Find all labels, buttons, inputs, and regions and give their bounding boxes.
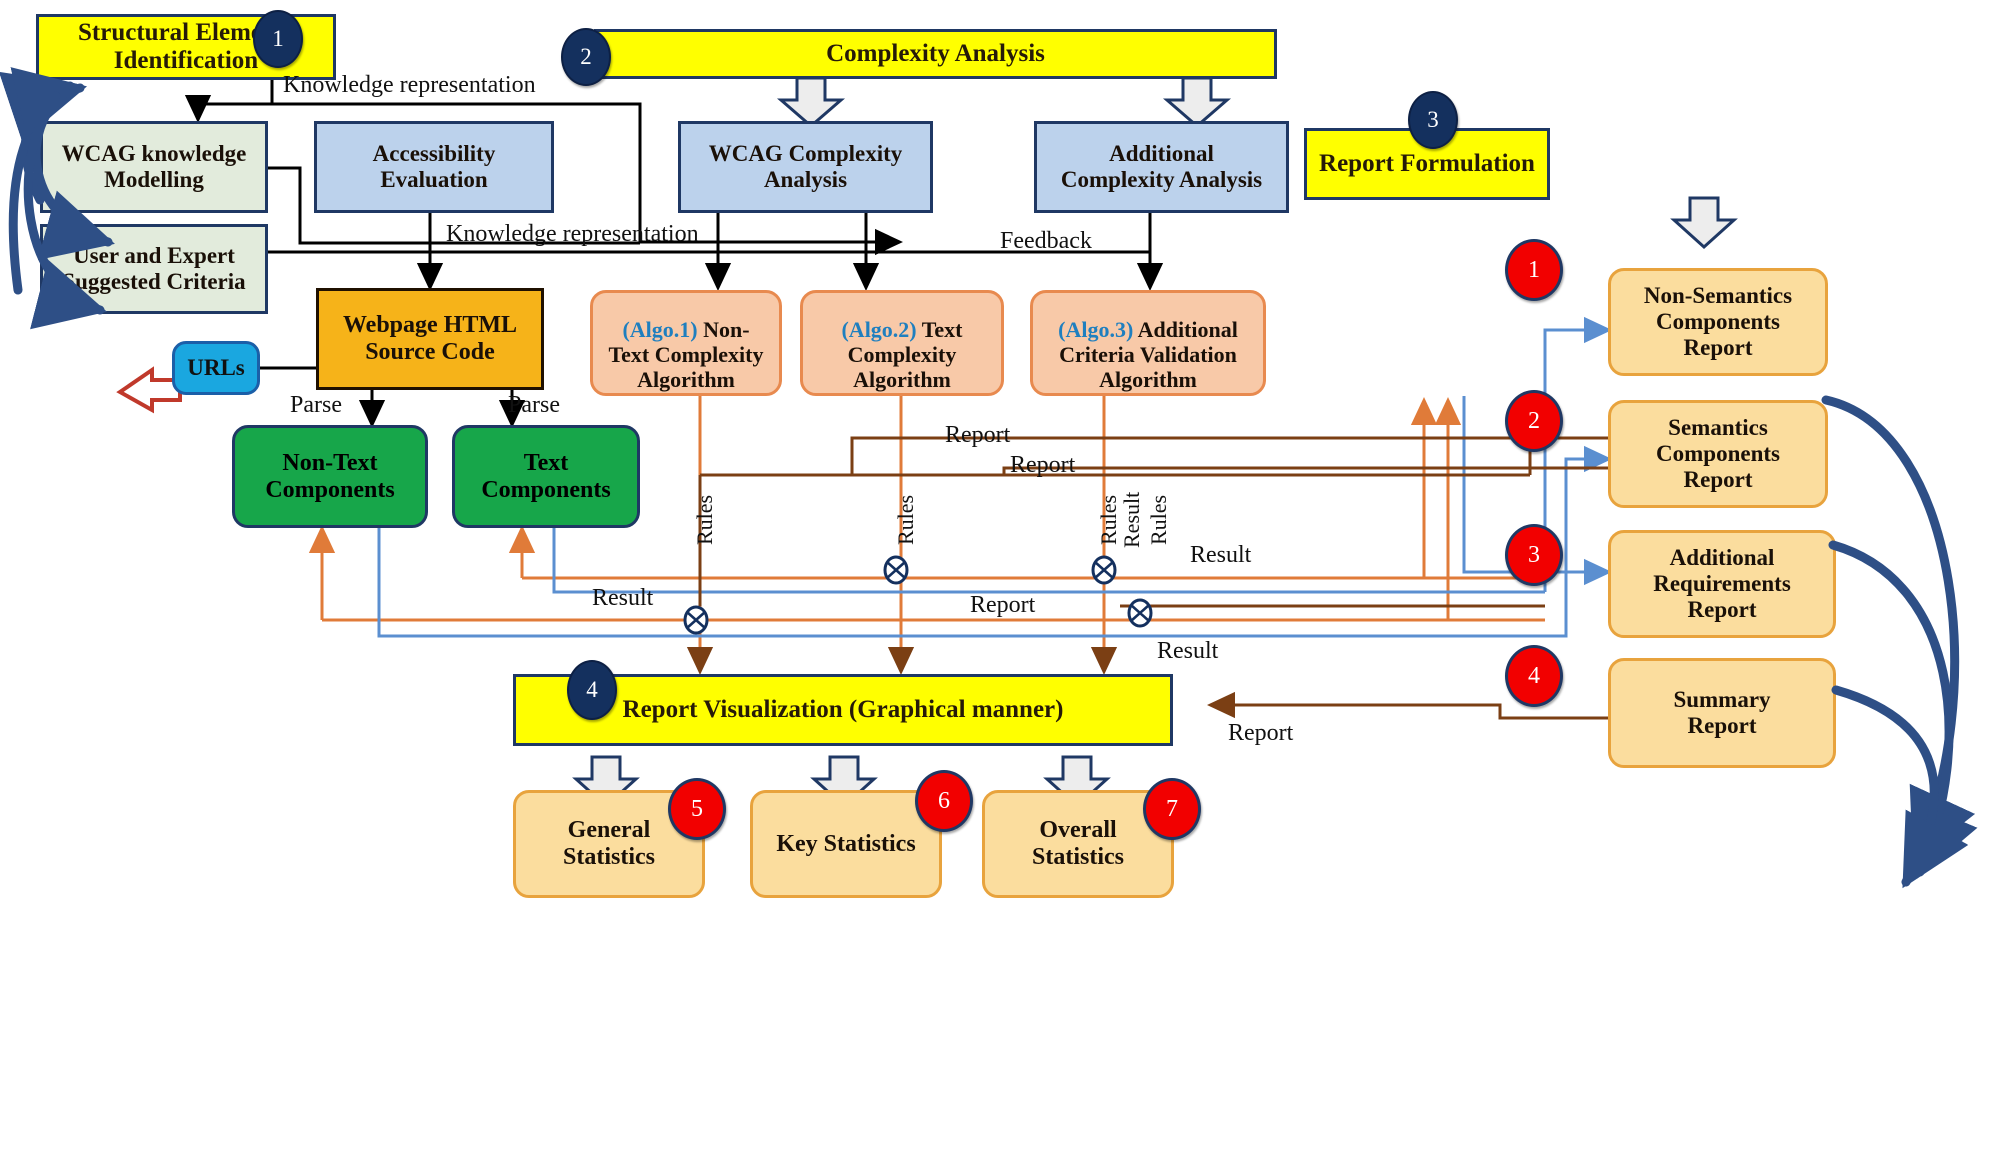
edge-label-rules-2: Rules — [893, 495, 919, 545]
edge-label-result-vertical: Result — [1119, 492, 1145, 548]
edge-label-feedback: Feedback — [1000, 228, 1092, 255]
badge-label: 1 — [272, 26, 284, 52]
edge-label-result-2: Result — [592, 585, 653, 612]
edge-label-rules-4: Rules — [1146, 495, 1172, 545]
badge-label: 6 — [938, 788, 950, 815]
edge-label-knowledge-representation-top: Knowledge representation — [283, 72, 536, 99]
badge-report-3: 3 — [1505, 524, 1563, 586]
badge-label: 4 — [586, 677, 598, 703]
badge-phase-2: 2 — [561, 28, 611, 86]
badge-phase-4: 4 — [567, 660, 617, 720]
badge-statistic-6: 6 — [915, 770, 973, 832]
badge-report-1: 1 — [1505, 239, 1563, 301]
edge-label-knowledge-representation-mid: Knowledge representation — [446, 221, 699, 248]
badge-statistic-5: 5 — [668, 778, 726, 840]
badge-report-2: 2 — [1505, 390, 1563, 452]
edge-label-report-2: Report — [1010, 452, 1075, 479]
badge-phase-1: 1 — [253, 10, 303, 68]
badge-statistic-7: 7 — [1143, 778, 1201, 840]
badge-label: 3 — [1528, 542, 1540, 569]
edge-label-report-3: Report — [970, 592, 1035, 619]
badge-label: 5 — [691, 796, 703, 823]
edge-label-report-1: Report — [945, 422, 1010, 449]
feedback-curves — [0, 0, 2008, 1161]
edge-label-parse-right: Parse — [508, 392, 560, 419]
badge-label: 3 — [1427, 107, 1439, 133]
edge-label-report-summary: Report — [1228, 720, 1293, 747]
badge-label: 7 — [1166, 796, 1178, 823]
badge-label: 4 — [1528, 663, 1540, 690]
badge-label: 1 — [1528, 257, 1540, 284]
badge-report-4: 4 — [1505, 645, 1563, 707]
edge-label-rules-1: Rules — [692, 495, 718, 545]
edge-label-result-3: Result — [1157, 638, 1218, 665]
edge-label-parse-left: Parse — [290, 392, 342, 419]
flowchart-canvas: Structural Elements Identification 1 Com… — [0, 0, 2008, 1161]
edge-label-result-1: Result — [1190, 542, 1251, 569]
badge-label: 2 — [1528, 408, 1540, 435]
badge-label: 2 — [580, 44, 592, 70]
badge-phase-3: 3 — [1408, 91, 1458, 149]
